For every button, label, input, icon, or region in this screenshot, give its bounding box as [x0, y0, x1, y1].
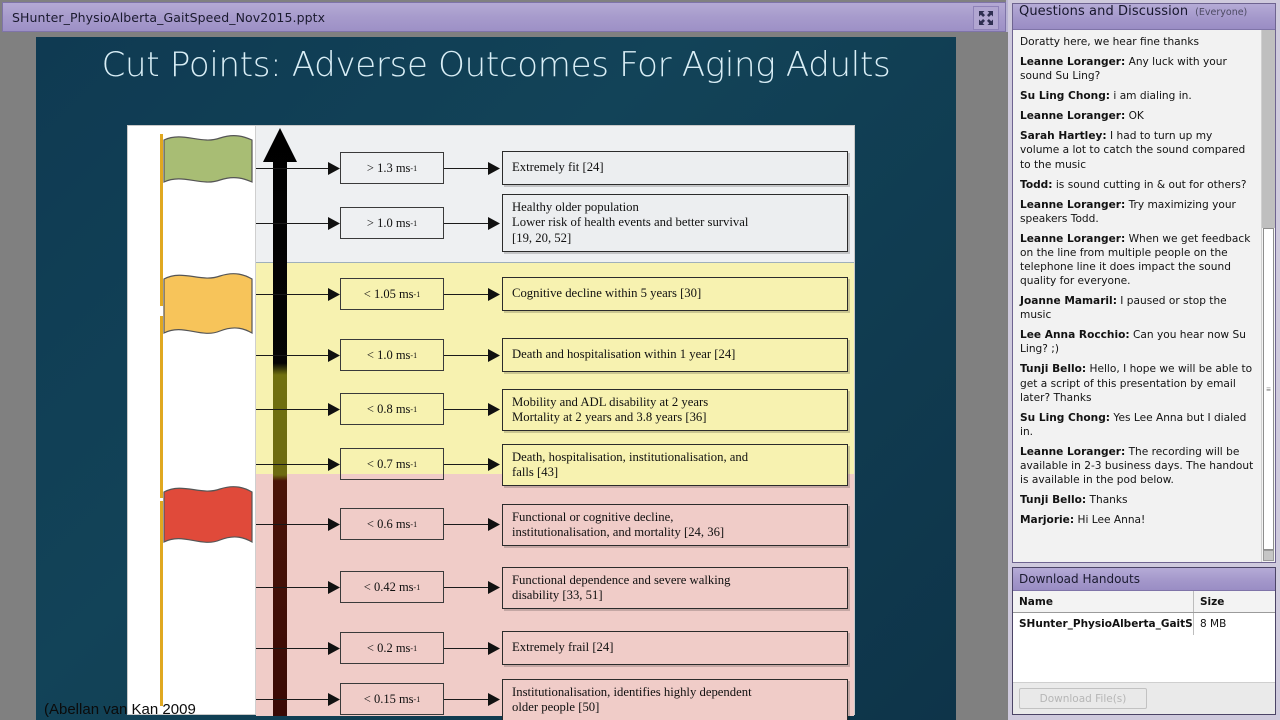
row-arrowhead [488, 581, 500, 594]
chat-message-author: Todd: [1020, 179, 1053, 191]
outcome-line: Death and hospitalisation within 1 year … [512, 347, 847, 362]
outcome-line: Institutionalisation, identifies highly … [512, 685, 847, 700]
row-connector [256, 464, 332, 465]
row-connector [444, 355, 492, 356]
row-connector [256, 699, 332, 700]
chat-message-author: Tunji Bello: [1020, 363, 1086, 375]
chat-body: Doratty here, we hear fine thanks Leanne… [1013, 30, 1275, 562]
outcome-line: Lower risk of health events and better s… [512, 215, 847, 230]
cut-point-label: < 0.6 ms [367, 517, 411, 532]
chat-message: Joanne Mamaril: I paused or stop the mus… [1020, 294, 1254, 322]
row-arrowhead [488, 403, 500, 416]
row-arrowhead [328, 642, 340, 655]
cut-point-label: < 0.2 ms [367, 641, 411, 656]
column-header-size: Size [1193, 591, 1275, 612]
row-arrowhead [488, 288, 500, 301]
cut-point-exponent: -1 [414, 695, 421, 704]
row-arrowhead [328, 458, 340, 471]
cut-point-exponent: -1 [410, 460, 417, 469]
chat-message-list[interactable]: Doratty here, we hear fine thanks Leanne… [1013, 30, 1261, 562]
handouts-pod: Download Handouts Name Size SHunter_Phys… [1012, 567, 1276, 715]
outcome-box: Mobility and ADL disability at 2 years M… [502, 389, 848, 431]
chat-scrollbar[interactable]: ≡ [1261, 30, 1275, 562]
chat-message-author: Marjorie: [1020, 514, 1074, 526]
outcome-line: Cognitive decline within 5 years [30] [512, 286, 847, 301]
outcome-line: Functional dependence and severe walking [512, 573, 847, 588]
cut-point-exponent: -1 [414, 583, 421, 592]
chat-pod-scope: (Everyone) [1195, 7, 1247, 18]
chat-message: Marjorie: Hi Lee Anna! [1020, 513, 1254, 527]
outcome-box: Cognitive decline within 5 years [30] [502, 277, 848, 311]
handouts-pod-header: Download Handouts [1013, 568, 1275, 591]
chat-message: Su Ling Chong: i am dialing in. [1020, 89, 1254, 103]
chat-message-author: Leanne Loranger: [1020, 233, 1125, 245]
handouts-table-row[interactable]: SHunter_PhysioAlberta_GaitSpeed 8 MB [1013, 613, 1275, 635]
handouts-table: Name Size SHunter_PhysioAlberta_GaitSpee… [1013, 591, 1275, 681]
row-arrowhead [328, 217, 340, 230]
slide-title: Cut Points: Adverse Outcomes For Aging A… [36, 45, 956, 85]
row-connector [444, 409, 492, 410]
handouts-pod-title: Download Handouts [1019, 572, 1140, 586]
row-connector [256, 524, 332, 525]
row-connector [444, 587, 492, 588]
outcome-box: Institutionalisation, identifies highly … [502, 679, 848, 720]
chat-message: Tunji Bello: Thanks [1020, 493, 1254, 507]
row-arrowhead [328, 518, 340, 531]
chat-message: Leanne Loranger: Any luck with your soun… [1020, 55, 1254, 83]
cut-point-box: < 0.6 ms-1 [340, 508, 444, 540]
row-connector [256, 223, 332, 224]
cut-point-box: < 0.42 ms-1 [340, 571, 444, 603]
green-flag-icon [163, 134, 253, 196]
cut-point-box: < 0.7 ms-1 [340, 448, 444, 480]
outcome-line: Death, hospitalisation, institutionalisa… [512, 450, 847, 465]
row-connector [444, 294, 492, 295]
cut-point-exponent: -1 [414, 290, 421, 299]
row-connector [444, 464, 492, 465]
chat-message-author: Leanne Loranger: [1020, 199, 1125, 211]
file-size: 8 MB [1193, 613, 1275, 635]
row-arrowhead [328, 693, 340, 706]
outcome-line: institutionalisation, and mortality [24,… [512, 525, 847, 540]
chat-pod-title: Questions and Discussion [1019, 4, 1188, 19]
outcome-box: Healthy older population Lower risk of h… [502, 194, 848, 252]
row-arrowhead [488, 349, 500, 362]
chat-message: Lee Anna Rocchio: Can you hear now Su Li… [1020, 328, 1254, 356]
cut-point-box: < 1.0 ms-1 [340, 339, 444, 371]
chat-message-author: Leanne Loranger: [1020, 446, 1125, 458]
cut-point-label: > 1.3 ms [367, 161, 411, 176]
cut-point-box: > 1.3 ms-1 [340, 152, 444, 184]
chat-message-author: Lee Anna Rocchio: [1020, 329, 1130, 341]
chat-message: Sarah Hartley: I had to turn up my volum… [1020, 129, 1254, 171]
share-pod-titlebar: SHunter_PhysioAlberta_GaitSpeed_Nov2015.… [2, 2, 1006, 32]
row-arrowhead [328, 288, 340, 301]
cut-point-box: < 0.2 ms-1 [340, 632, 444, 664]
chat-message: Leanne Loranger: Try maximizing your spe… [1020, 198, 1254, 226]
cut-point-exponent: -1 [410, 219, 417, 228]
chat-message-text: OK [1125, 110, 1144, 122]
outcome-line: falls [43] [512, 465, 847, 480]
presentation-slide: Cut Points: Adverse Outcomes For Aging A… [36, 37, 956, 720]
row-connector [256, 355, 332, 356]
row-connector [256, 294, 332, 295]
outcome-line: disability [33, 51] [512, 588, 847, 603]
speed-gradient-arrow [260, 126, 300, 716]
row-arrowhead [488, 642, 500, 655]
row-arrowhead [488, 518, 500, 531]
cut-point-exponent: -1 [410, 164, 417, 173]
cut-point-label: < 1.05 ms [364, 287, 414, 302]
row-connector [444, 648, 492, 649]
row-arrowhead [488, 458, 500, 471]
row-connector [256, 587, 332, 588]
outcome-line: older people [50] [512, 700, 847, 715]
chat-message: Doratty here, we hear fine thanks [1020, 35, 1254, 49]
chat-message-text: Hi Lee Anna! [1074, 514, 1145, 526]
cut-point-label: > 1.0 ms [367, 216, 411, 231]
chat-message: Leanne Loranger: The recording will be a… [1020, 445, 1254, 487]
chat-message: Todd: is sound cutting in & out for othe… [1020, 178, 1254, 192]
handouts-table-header-row: Name Size [1013, 591, 1275, 613]
handouts-footer: Download File(s) [1013, 682, 1275, 714]
chat-message-author: Leanne Loranger: [1020, 110, 1125, 122]
yellow-flag-icon [163, 271, 253, 351]
chat-scrollbar-thumb[interactable]: ≡ [1263, 228, 1274, 550]
cut-point-box: < 1.05 ms-1 [340, 278, 444, 310]
row-connector [256, 409, 332, 410]
slide-viewport: Cut Points: Adverse Outcomes For Aging A… [0, 32, 1008, 720]
download-files-button[interactable]: Download File(s) [1019, 688, 1147, 709]
cut-point-label: < 0.7 ms [367, 457, 411, 472]
outcome-line: Mortality at 2 years and 3.8 years [36] [512, 410, 847, 425]
chat-message-author: Su Ling Chong: [1020, 412, 1110, 424]
cut-point-label: < 0.15 ms [364, 692, 414, 707]
outcome-line: Mobility and ADL disability at 2 years [512, 395, 847, 410]
outcome-box: Extremely frail [24] [502, 631, 848, 665]
cut-point-exponent: -1 [410, 520, 417, 529]
cut-point-label: < 0.8 ms [367, 402, 411, 417]
chat-message: Leanne Loranger: When we get feedback on… [1020, 232, 1254, 288]
row-arrowhead [328, 349, 340, 362]
outcome-line: [19, 20, 52] [512, 231, 847, 246]
row-connector [256, 648, 332, 649]
outcome-box: Functional dependence and severe walking… [502, 567, 848, 609]
outcome-line: Functional or cognitive decline, [512, 510, 847, 525]
row-connector [444, 699, 492, 700]
row-connector [444, 524, 492, 525]
slide-citation: (Abellan van Kan 2009 [44, 701, 196, 718]
cut-point-label: < 0.42 ms [364, 580, 414, 595]
outcome-line: Extremely frail [24] [512, 640, 847, 655]
chat-message: Tunji Bello: Hello, I hope we will be ab… [1020, 362, 1254, 404]
cut-point-exponent: -1 [410, 644, 417, 653]
flag-column [128, 126, 256, 714]
share-pod: SHunter_PhysioAlberta_GaitSpeed_Nov2015.… [0, 0, 1008, 720]
cut-point-box: < 0.15 ms-1 [340, 683, 444, 715]
chat-message-author: Leanne Loranger: [1020, 56, 1125, 68]
row-arrowhead [488, 693, 500, 706]
chat-message-text: Thanks [1086, 494, 1127, 506]
row-connector [256, 168, 332, 169]
webinar-window: SHunter_PhysioAlberta_GaitSpeed_Nov2015.… [0, 0, 1280, 720]
chat-scrollbar-track[interactable] [1262, 30, 1275, 228]
cut-point-box: < 0.8 ms-1 [340, 393, 444, 425]
outcome-box: Functional or cognitive decline, institu… [502, 504, 848, 546]
file-name: SHunter_PhysioAlberta_GaitSpeed [1013, 618, 1193, 630]
row-arrowhead [488, 162, 500, 175]
chat-message-text: i am dialing in. [1110, 90, 1192, 102]
chat-message-text: is sound cutting in & out for others? [1053, 179, 1247, 191]
chat-message-author: Joanne Mamaril: [1020, 295, 1117, 307]
row-arrowhead [328, 581, 340, 594]
chat-message-text: Doratty here, we hear fine thanks [1020, 36, 1199, 48]
outcome-box: Death and hospitalisation within 1 year … [502, 338, 848, 372]
red-flag-icon [163, 484, 253, 560]
outcome-line: Extremely fit [24] [512, 160, 847, 175]
row-arrowhead [488, 217, 500, 230]
right-sidebar: Questions and Discussion (Everyone) Dora… [1008, 0, 1280, 720]
chat-message: Leanne Loranger: OK [1020, 109, 1254, 123]
outcome-line: Healthy older population [512, 200, 847, 215]
fullscreen-expand-icon[interactable] [973, 6, 999, 30]
cut-point-exponent: -1 [410, 405, 417, 414]
chat-message-author: Sarah Hartley: [1020, 130, 1107, 142]
share-pod-title: SHunter_PhysioAlberta_GaitSpeed_Nov2015.… [3, 10, 325, 25]
chat-scrollbar-down-button[interactable] [1263, 550, 1274, 561]
outcome-box: Extremely fit [24] [502, 151, 848, 185]
row-connector [444, 223, 492, 224]
row-connector [444, 168, 492, 169]
chat-message-author: Su Ling Chong: [1020, 90, 1110, 102]
cut-point-exponent: -1 [410, 351, 417, 360]
chat-pod-header: Questions and Discussion (Everyone) [1013, 4, 1275, 30]
cut-points-figure: > 1.3 ms-1 Extremely fit [24] > 1.0 ms-1 [127, 125, 855, 715]
chat-pod: Questions and Discussion (Everyone) Dora… [1012, 3, 1276, 563]
chat-message-author: Tunji Bello: [1020, 494, 1086, 506]
cut-point-box: > 1.0 ms-1 [340, 207, 444, 239]
row-arrowhead [328, 403, 340, 416]
column-header-name: Name [1013, 596, 1193, 608]
row-arrowhead [328, 162, 340, 175]
chat-message: Su Ling Chong: Yes Lee Anna but I dialed… [1020, 411, 1254, 439]
cut-point-label: < 1.0 ms [367, 348, 411, 363]
outcome-box: Death, hospitalisation, institutionalisa… [502, 444, 848, 486]
